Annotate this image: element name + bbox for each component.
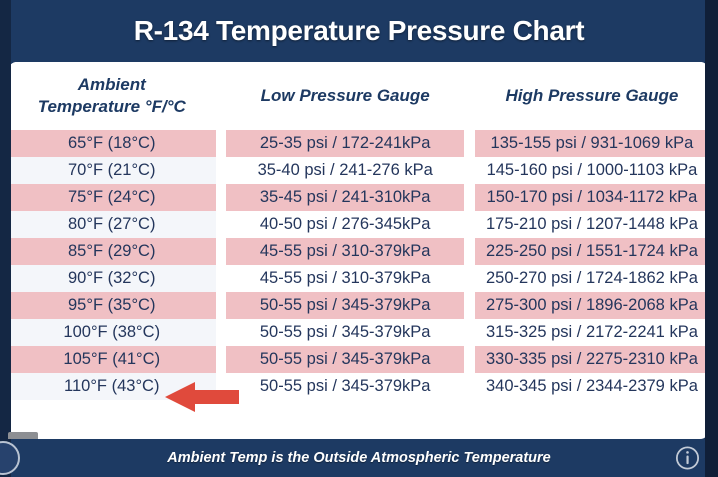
cell-high-pressure: 250-270 psi / 1724-1862 kPa [475,265,709,292]
cell-low-pressure: 40-50 psi / 276-345kPa [226,211,464,238]
cell-gap-1 [216,346,227,373]
pressure-table: Ambient Temperature °F/°C Low Pressure G… [8,62,709,400]
scroll-tab-handle[interactable] [8,432,38,439]
table-body: 65°F (18°C)25-35 psi / 172-241kPa135-155… [8,130,709,400]
cell-high-pressure: 135-155 psi / 931-1069 kPa [475,130,709,157]
cell-low-pressure: 50-55 psi / 345-379kPa [226,346,464,373]
cell-high-pressure: 275-300 psi / 1896-2068 kPa [475,292,709,319]
cell-low-pressure: 35-45 psi / 241-310kPa [226,184,464,211]
cell-high-pressure: 225-250 psi / 1551-1724 kPa [475,238,709,265]
cell-gap-1 [216,211,227,238]
table-header-row: Ambient Temperature °F/°C Low Pressure G… [8,62,709,130]
column-header-high-pressure: High Pressure Gauge [475,62,709,130]
cell-ambient-temperature: 90°F (32°C) [8,265,216,292]
cell-gap-1 [216,157,227,184]
title-bar: R-134 Temperature Pressure Chart [0,0,718,62]
cell-ambient-temperature: 75°F (24°C) [8,184,216,211]
cell-gap-1 [216,265,227,292]
table-row: 70°F (21°C)35-40 psi / 241-276 kPa145-16… [8,157,709,184]
temperature-pressure-chart-screen: R-134 Temperature Pressure Chart Ambient… [0,0,718,477]
table-row: 95°F (35°C)50-55 psi / 345-379kPa275-300… [8,292,709,319]
left-edge-strip [0,0,11,477]
cell-gap-2 [464,319,475,346]
chart-card: Ambient Temperature °F/°C Low Pressure G… [8,62,709,439]
column-header-ambient-line2: Temperature °F/°C [8,96,216,118]
footer-bar: Ambient Temp is the Outside Atmospheric … [0,439,718,477]
cell-high-pressure: 145-160 psi / 1000-1103 kPa [475,157,709,184]
cell-ambient-temperature: 70°F (21°C) [8,157,216,184]
cell-gap-2 [464,373,475,400]
cell-gap-1 [216,319,227,346]
cell-gap-2 [464,292,475,319]
cell-gap-2 [464,157,475,184]
cell-low-pressure: 25-35 psi / 172-241kPa [226,130,464,157]
cell-ambient-temperature: 100°F (38°C) [8,319,216,346]
cell-low-pressure: 50-55 psi / 345-379kPa [226,292,464,319]
cell-gap-1 [216,373,227,400]
cell-low-pressure: 50-55 psi / 345-379kPa [226,373,464,400]
cell-low-pressure: 45-55 psi / 310-379kPa [226,265,464,292]
table-row: 110°F (43°C)50-55 psi / 345-379kPa340-34… [8,373,709,400]
cell-low-pressure: 50-55 psi / 345-379kPa [226,319,464,346]
cell-high-pressure: 315-325 psi / 2172-2241 kPa [475,319,709,346]
cell-high-pressure: 330-335 psi / 2275-2310 kPa [475,346,709,373]
cell-high-pressure: 150-170 psi / 1034-1172 kPa [475,184,709,211]
cell-ambient-temperature: 95°F (35°C) [8,292,216,319]
cell-gap-1 [216,238,227,265]
table-row: 100°F (38°C)50-55 psi / 345-379kPa315-32… [8,319,709,346]
table-row: 65°F (18°C)25-35 psi / 172-241kPa135-155… [8,130,709,157]
table-row: 85°F (29°C)45-55 psi / 310-379kPa225-250… [8,238,709,265]
cell-ambient-temperature: 80°F (27°C) [8,211,216,238]
cell-ambient-temperature: 105°F (41°C) [8,346,216,373]
table-header: Ambient Temperature °F/°C Low Pressure G… [8,62,709,130]
column-header-ambient-temperature: Ambient Temperature °F/°C [8,62,216,130]
cell-high-pressure: 340-345 psi / 2344-2379 kPa [475,373,709,400]
column-header-low-pressure: Low Pressure Gauge [226,62,464,130]
info-icon[interactable] [675,446,700,471]
header-gap-1 [216,62,227,130]
cell-ambient-temperature: 110°F (43°C) [8,373,216,400]
cell-low-pressure: 35-40 psi / 241-276 kPa [226,157,464,184]
cell-gap-2 [464,346,475,373]
cell-gap-1 [216,130,227,157]
cell-ambient-temperature: 85°F (29°C) [8,238,216,265]
cell-gap-2 [464,130,475,157]
page-title: R-134 Temperature Pressure Chart [134,15,585,47]
table-row: 75°F (24°C)35-45 psi / 241-310kPa150-170… [8,184,709,211]
table-row: 105°F (41°C)50-55 psi / 345-379kPa330-33… [8,346,709,373]
table-row: 80°F (27°C)40-50 psi / 276-345kPa175-210… [8,211,709,238]
cell-ambient-temperature: 65°F (18°C) [8,130,216,157]
column-header-ambient-line1: Ambient [8,74,216,96]
cell-gap-2 [464,238,475,265]
cell-gap-2 [464,265,475,292]
cell-high-pressure: 175-210 psi / 1207-1448 kPa [475,211,709,238]
footer-note: Ambient Temp is the Outside Atmospheric … [167,450,551,466]
header-gap-2 [464,62,475,130]
right-edge-strip [705,0,718,477]
cell-low-pressure: 45-55 psi / 310-379kPa [226,238,464,265]
cell-gap-1 [216,184,227,211]
cell-gap-2 [464,184,475,211]
cell-gap-2 [464,211,475,238]
cell-gap-1 [216,292,227,319]
table-row: 90°F (32°C)45-55 psi / 310-379kPa250-270… [8,265,709,292]
